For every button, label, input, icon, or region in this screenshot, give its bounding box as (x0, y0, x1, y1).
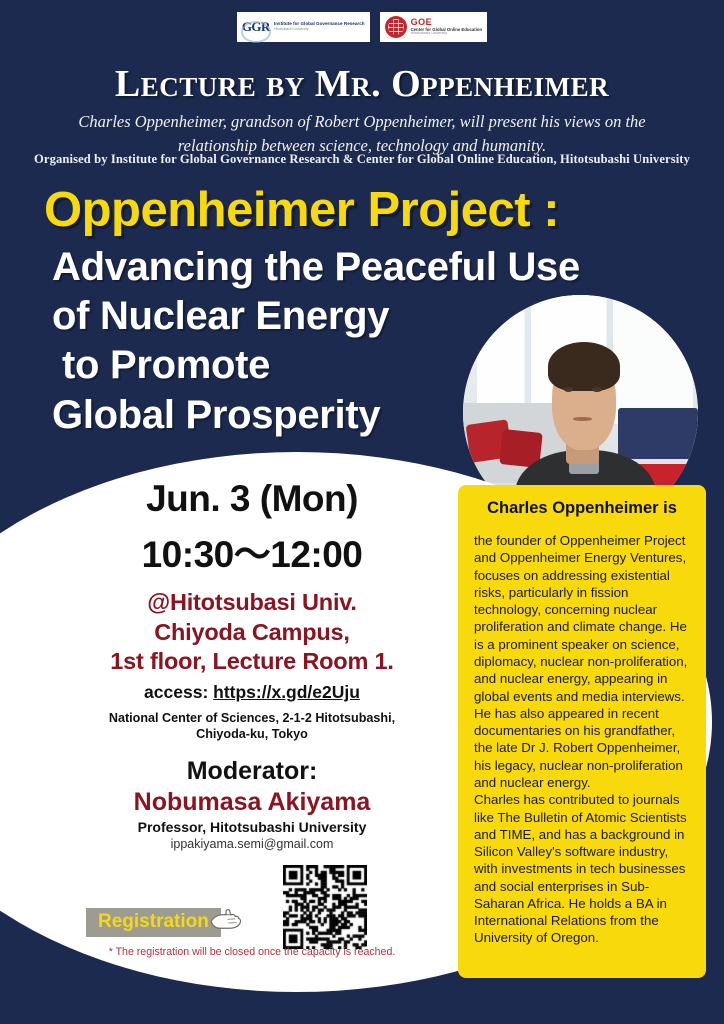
event-details: Jun. 3 (Mon) 10:30〜12:00 @Hitotsubasi Un… (56, 478, 448, 851)
moderator-label: Moderator: (56, 757, 448, 786)
headline-theme-line1: Advancing the Peaceful Use (52, 243, 580, 292)
logo-row: GGR Institute for Global Governance Rese… (0, 12, 724, 42)
speaker-bio-title: Charles Oppenheimer is (474, 499, 690, 518)
ggr-logo-text: Institute for Global Governance Research… (274, 22, 365, 31)
event-address-line2: Chiyoda-ku, Tokyo (56, 726, 448, 743)
poster-root: GGR Institute for Global Governance Rese… (0, 0, 724, 1024)
lecture-title: Lecture by Mr. Oppenheimer (0, 62, 724, 106)
organised-by-line: Organised by Institute for Global Govern… (0, 152, 724, 167)
ggr-logo: GGR Institute for Global Governance Rese… (237, 12, 370, 42)
registration-footnote: * The registration will be closed once t… (56, 946, 448, 958)
moderator-affiliation: Professor, Hitotsubashi University (56, 819, 448, 835)
registration-button[interactable]: Registration (86, 908, 221, 937)
event-venue-line3: 1st floor, Lecture Room 1. (56, 647, 448, 677)
speaker-bio-paragraph-2: Charles has contributed to journals like… (474, 791, 690, 947)
globe-icon (385, 16, 407, 38)
event-time: 10:30〜12:00 (56, 524, 448, 578)
goe-logo-line2: Hitotsubashi University (411, 32, 483, 36)
event-date: Jun. 3 (Mon) (56, 478, 448, 520)
moderator-email: ippakiyama.semi@gmail.com (56, 837, 448, 851)
speaker-bio-paragraph-1: the founder of Oppenheimer Project and O… (474, 532, 690, 791)
lecture-subtitle: Charles Oppenheimer, grandson of Robert … (62, 110, 662, 158)
speaker-bio-box: Charles Oppenheimer is the founder of Op… (458, 485, 706, 978)
goe-logo: GOE Center for Global Online Education H… (380, 12, 488, 42)
event-address-line1: National Center of Sciences, 2-1-2 Hitot… (56, 710, 448, 727)
event-venue-line1: @Hitotsubasi Univ. (56, 588, 448, 618)
event-venue-line2: Chiyoda Campus, (56, 618, 448, 648)
speaker-bio-text: the founder of Oppenheimer Project and O… (474, 532, 690, 947)
access-url-link[interactable]: https://x.gd/e2Uju (213, 682, 360, 702)
event-address: National Center of Sciences, 2-1-2 Hitot… (56, 710, 448, 743)
event-venue: @Hitotsubasi Univ. Chiyoda Campus, 1st f… (56, 588, 448, 677)
ggr-mark-icon: GGR (242, 19, 274, 35)
access-label: access: (144, 682, 213, 702)
goe-logo-text: GOE Center for Global Online Education H… (411, 18, 483, 37)
registration-qr-code[interactable] (283, 865, 367, 949)
pointing-hand-icon (208, 905, 244, 935)
access-line: access: https://x.gd/e2Uju (56, 682, 448, 703)
headline-project: Oppenheimer Project : (44, 182, 559, 238)
moderator-name: Nobumasa Akiyama (56, 788, 448, 817)
ggr-logo-line2: Hitotsubashi University (274, 28, 365, 32)
